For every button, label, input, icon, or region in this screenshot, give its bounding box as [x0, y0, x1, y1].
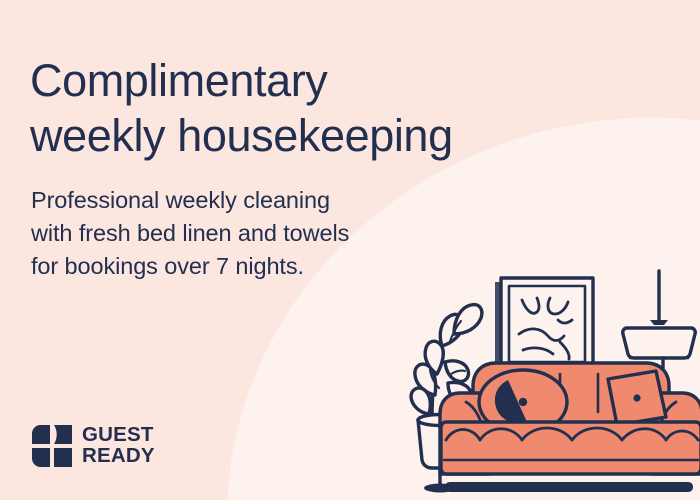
description-text: Professional weekly cleaning with fresh …: [31, 184, 461, 284]
living-room-svg: [398, 262, 700, 500]
logo-wordmark: GUEST READY: [82, 425, 155, 467]
framed-artwork-icon: [495, 278, 593, 375]
page-title: Complimentary weekly housekeeping: [30, 54, 630, 164]
guestready-grid-mark: [31, 424, 73, 468]
guestready-logo: GUEST READY: [31, 424, 155, 468]
promo-banner: Complimentary weekly housekeeping Profes…: [0, 0, 700, 500]
coral-sofa-icon: [440, 363, 700, 492]
living-room-illustration: [398, 262, 700, 500]
